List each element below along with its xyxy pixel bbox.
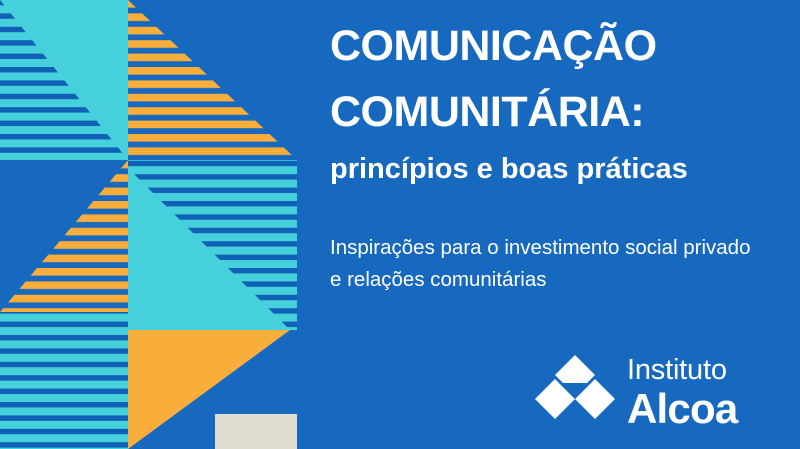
page-tagline: Inspirações para o investimento social p…	[330, 232, 760, 296]
beige-block	[215, 414, 297, 449]
diamond-mark-svg	[535, 353, 615, 433]
instituto-alcoa-diamond-icon	[535, 353, 615, 433]
instituto-alcoa-logo: Instituto Alcoa	[535, 348, 800, 434]
cover-page: COMUNICAÇÃO COMUNITÁRIA: princípios e bo…	[0, 0, 800, 449]
quadrant-bottom-left	[0, 160, 128, 449]
quadrant-top-right	[128, 0, 297, 160]
instituto-alcoa-wordmark: Instituto Alcoa	[627, 348, 800, 434]
logo-text-instituto: Instituto	[627, 354, 727, 387]
quadrant-top-left	[0, 0, 128, 160]
geometric-artwork	[0, 0, 297, 449]
text-column: COMUNICAÇÃO COMUNITÁRIA: princípios e bo…	[330, 0, 800, 449]
page-title-line-1: COMUNICAÇÃO	[330, 22, 657, 70]
quadrant-bottom-right	[128, 160, 297, 449]
artwork-svg	[0, 0, 297, 449]
page-subtitle: princípios e boas práticas	[330, 152, 688, 186]
page-title-line-2: COMUNITÁRIA:	[330, 88, 644, 136]
logo-text-alcoa: Alcoa	[627, 386, 737, 432]
